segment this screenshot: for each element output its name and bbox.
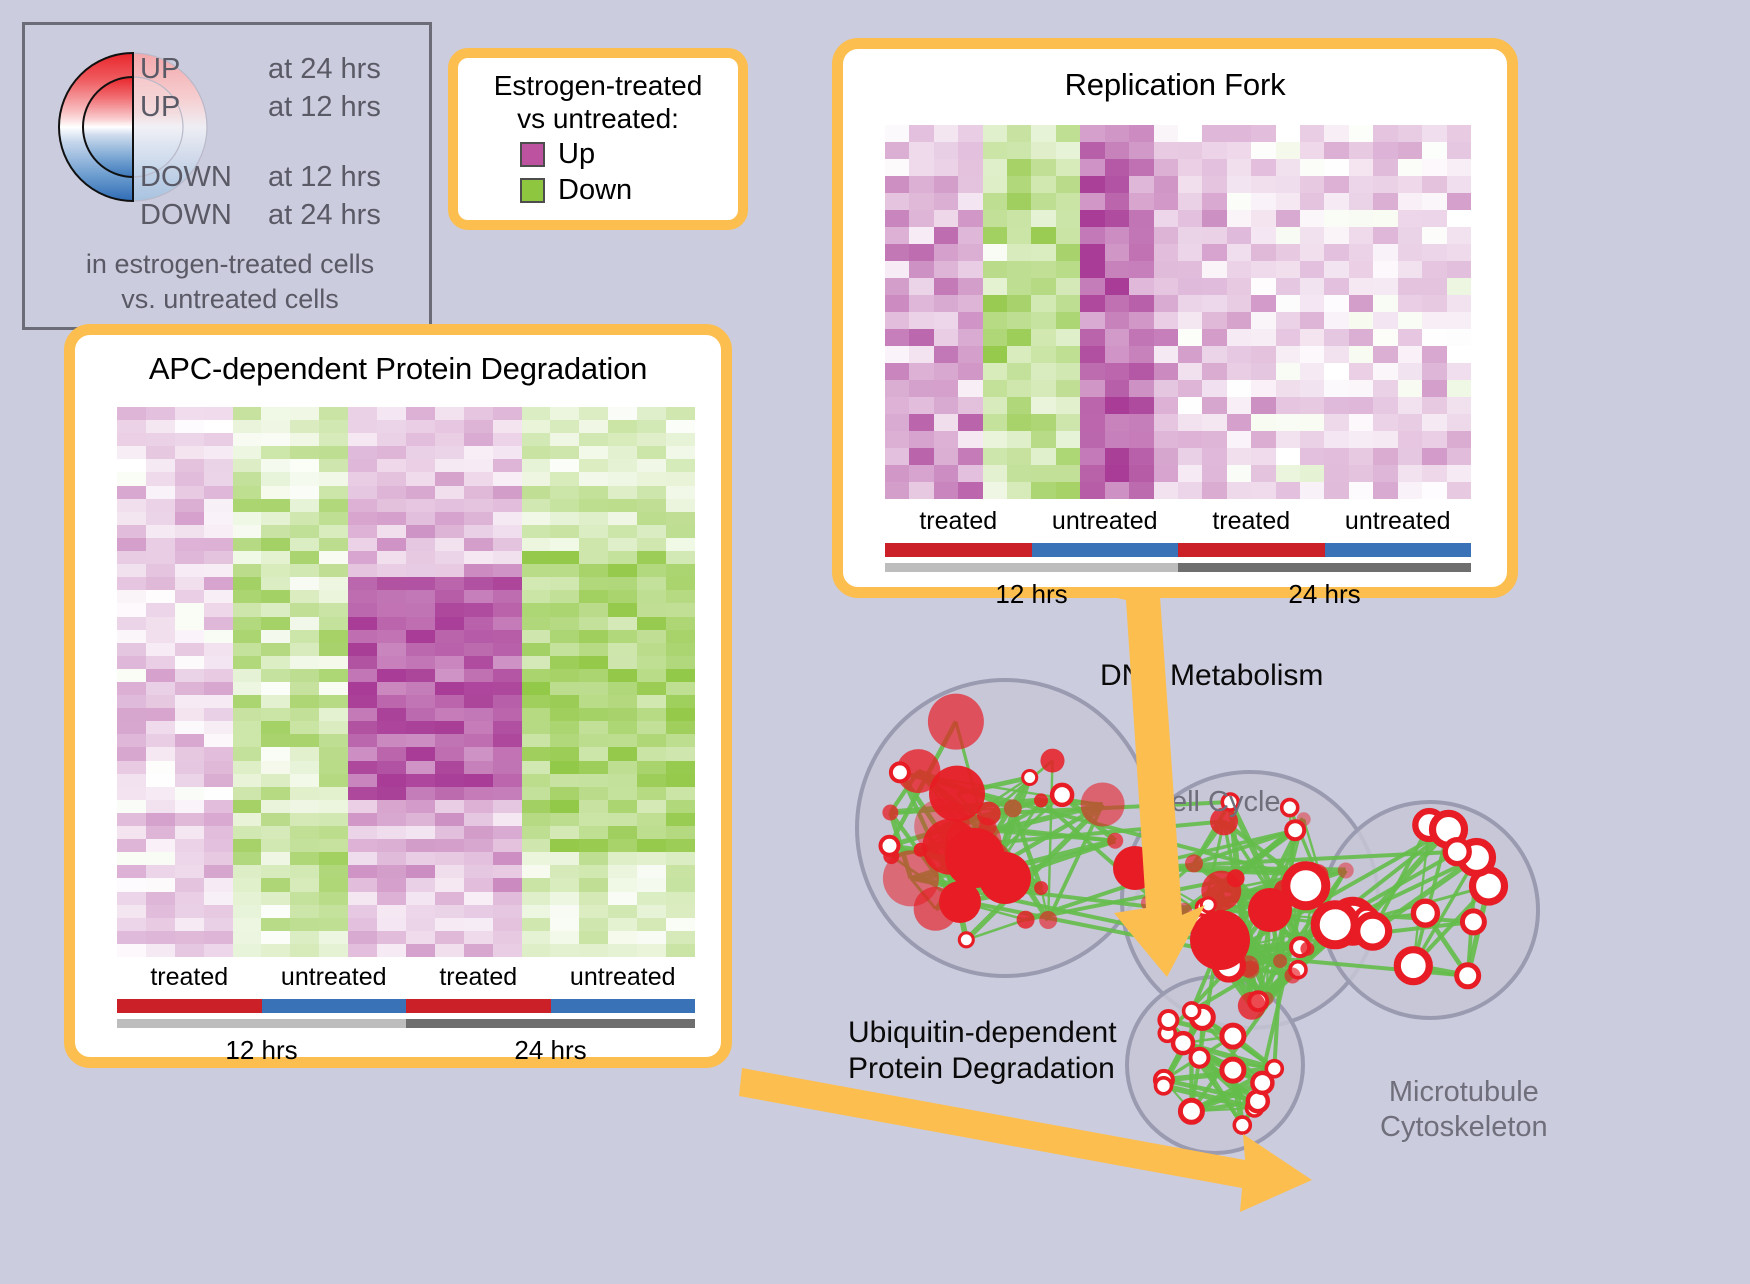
- legend-item-down: Down: [520, 174, 738, 207]
- bar-untreated-12: [262, 999, 407, 1013]
- cluster-label-ubiquitin-degradation: Ubiquitin-dependent Protein Degradation: [848, 1015, 1117, 1087]
- cluster-label-microtubule-cytoskeleton: Microtubule Cytoskeleton: [1380, 1075, 1548, 1145]
- panel-apc-degradation: APC-dependent Protein Degradation treate…: [64, 324, 732, 1068]
- time-label-24: 24 hrs: [406, 1035, 695, 1066]
- col-label-treated-24: treated: [406, 963, 551, 992]
- apc-column-labels: treated untreated treated untreated: [117, 963, 695, 992]
- time-bar-24: [406, 1019, 695, 1028]
- down-colour-swatch: [520, 178, 545, 203]
- cluster-label-dna-metabolism: DNA Metabolism: [1100, 658, 1323, 694]
- replication-fork-treatment-bar: [885, 543, 1471, 557]
- time-label-24: 24 hrs: [1178, 579, 1471, 610]
- apc-time-labels: 12 hrs 24 hrs: [117, 1035, 695, 1066]
- wheel-time: at 12 hrs: [268, 161, 381, 193]
- wheel-key: UP: [140, 91, 268, 124]
- up-down-legend-title: Estrogen-treated vs untreated:: [458, 69, 738, 135]
- bar-treated-12: [885, 543, 1032, 557]
- wheel-time: at 12 hrs: [268, 91, 381, 123]
- legend-title-line-1: Estrogen-treated: [458, 69, 738, 102]
- legend-item-up: Up: [520, 138, 738, 171]
- legend-item-down-label: Down: [558, 174, 632, 207]
- bar-treated-12: [117, 999, 262, 1013]
- apc-time-bar: [117, 1019, 695, 1028]
- wheel-row-down-12: DOWNat 12 hrs: [140, 161, 381, 194]
- time-bar-12: [117, 1019, 406, 1028]
- replication-fork-column-labels: treated untreated treated untreated: [885, 507, 1471, 536]
- caption-line-1: in estrogen-treated cells: [25, 247, 435, 282]
- figure-canvas: UPat 24 hrs UPat 12 hrs DOWNat 12 hrs DO…: [0, 0, 1750, 1279]
- col-label-untreated-24: untreated: [551, 963, 696, 992]
- time-bar-24: [1178, 563, 1471, 572]
- wheel-row-up-24: UPat 24 hrs: [140, 53, 381, 86]
- wheel-key: DOWN: [140, 199, 268, 232]
- col-label-untreated-24: untreated: [1325, 507, 1472, 536]
- bar-treated-24: [406, 999, 551, 1013]
- caption-line-2: vs. untreated cells: [25, 282, 435, 317]
- up-colour-swatch: [520, 142, 545, 167]
- bar-untreated-24: [551, 999, 696, 1013]
- panel-title-replication-fork: Replication Fork: [843, 67, 1507, 103]
- panel-title-apc: APC-dependent Protein Degradation: [75, 351, 721, 387]
- time-bar-12: [885, 563, 1178, 572]
- col-label-treated-12: treated: [117, 963, 262, 992]
- wheel-key: DOWN: [140, 161, 268, 194]
- time-label-12: 12 hrs: [117, 1035, 406, 1066]
- col-label-untreated-12: untreated: [262, 963, 407, 992]
- network-graph: [800, 610, 1750, 1279]
- legend-title-line-2: vs untreated:: [458, 102, 738, 135]
- wheel-time: at 24 hrs: [268, 53, 381, 85]
- replication-fork-time-bar: [885, 563, 1471, 572]
- pathway-network-diagram: DNA Metabolism Cell Cycle Microtubule Cy…: [800, 610, 1750, 1279]
- wheel-row-down-24: DOWNat 24 hrs: [140, 199, 381, 232]
- heatmap-apc: [117, 407, 695, 957]
- cluster-label-cell-cycle: Cell Cycle: [1150, 785, 1281, 820]
- replication-fork-time-labels: 12 hrs 24 hrs: [885, 579, 1471, 610]
- wheel-row-up-12: UPat 12 hrs: [140, 91, 381, 124]
- time-label-12: 12 hrs: [885, 579, 1178, 610]
- col-label-untreated-12: untreated: [1032, 507, 1179, 536]
- colour-wheel-caption: in estrogen-treated cells vs. untreated …: [25, 247, 435, 316]
- apc-treatment-bar: [117, 999, 695, 1013]
- up-down-legend: Estrogen-treated vs untreated: Up Down: [448, 48, 748, 230]
- legend-item-up-label: Up: [558, 138, 595, 171]
- heatmap-replication-fork: [885, 125, 1471, 499]
- wheel-time: at 24 hrs: [268, 199, 381, 231]
- wheel-key: UP: [140, 53, 268, 86]
- colour-wheel-legend: UPat 24 hrs UPat 12 hrs DOWNat 12 hrs DO…: [22, 22, 432, 330]
- bar-treated-24: [1178, 543, 1325, 557]
- bar-untreated-12: [1032, 543, 1179, 557]
- panel-replication-fork: Replication Fork treated untreated treat…: [832, 38, 1518, 598]
- bar-untreated-24: [1325, 543, 1472, 557]
- col-label-treated-12: treated: [885, 507, 1032, 536]
- col-label-treated-24: treated: [1178, 507, 1325, 536]
